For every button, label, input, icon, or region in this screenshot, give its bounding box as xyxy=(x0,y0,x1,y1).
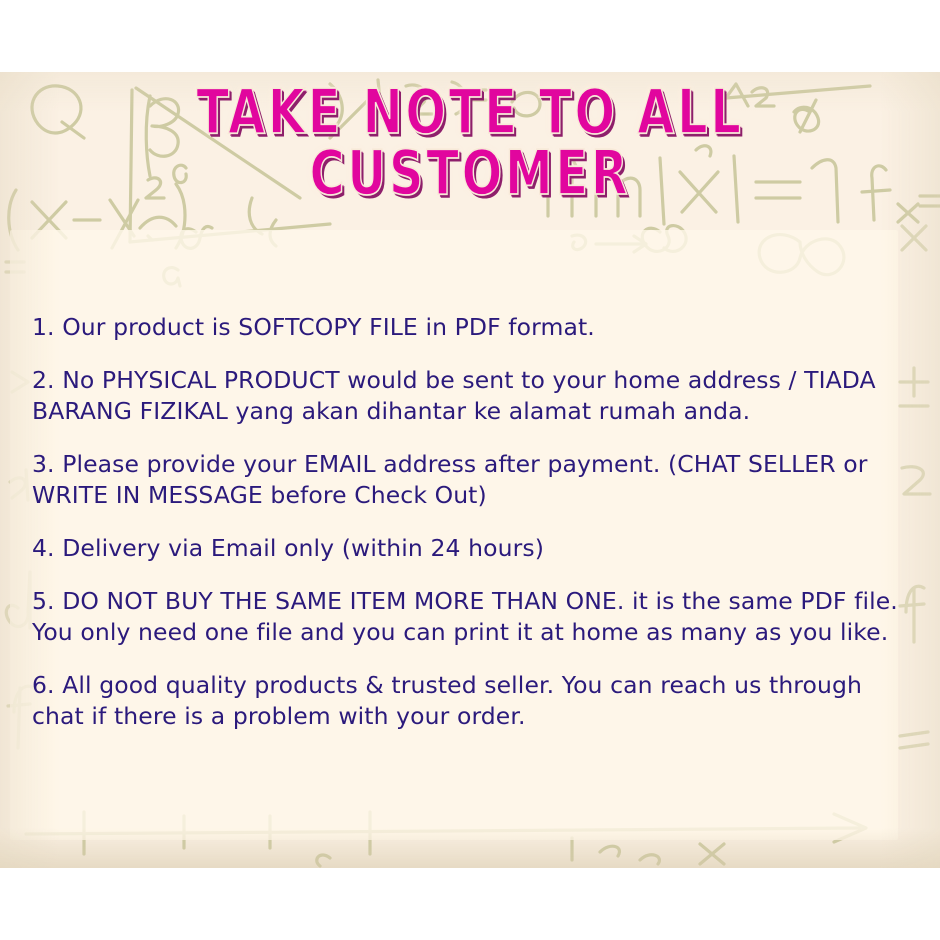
poster-title: TAKE NOTE TO ALL CUSTOMER xyxy=(0,88,940,200)
paper-background: TAKE NOTE TO ALL CUSTOMER 1. Our product… xyxy=(0,72,940,868)
title-line-2: CUSTOMER xyxy=(38,144,903,204)
note-item-1: 1. Our product is SOFTCOPY FILE in PDF f… xyxy=(32,312,906,343)
note-item-5: 5. DO NOT BUY THE SAME ITEM MORE THAN ON… xyxy=(32,586,906,648)
note-item-3: 3. Please provide your EMAIL address aft… xyxy=(32,449,906,511)
note-item-4: 4. Delivery via Email only (within 24 ho… xyxy=(32,533,906,564)
title-line-1: TAKE NOTE TO ALL xyxy=(38,83,903,143)
poster-root: TAKE NOTE TO ALL CUSTOMER 1. Our product… xyxy=(0,0,940,940)
note-item-6: 6. All good quality products & trusted s… xyxy=(32,670,906,732)
notes-list: 1. Our product is SOFTCOPY FILE in PDF f… xyxy=(32,312,906,732)
note-item-2: 2. No PHYSICAL PRODUCT would be sent to … xyxy=(32,365,906,427)
